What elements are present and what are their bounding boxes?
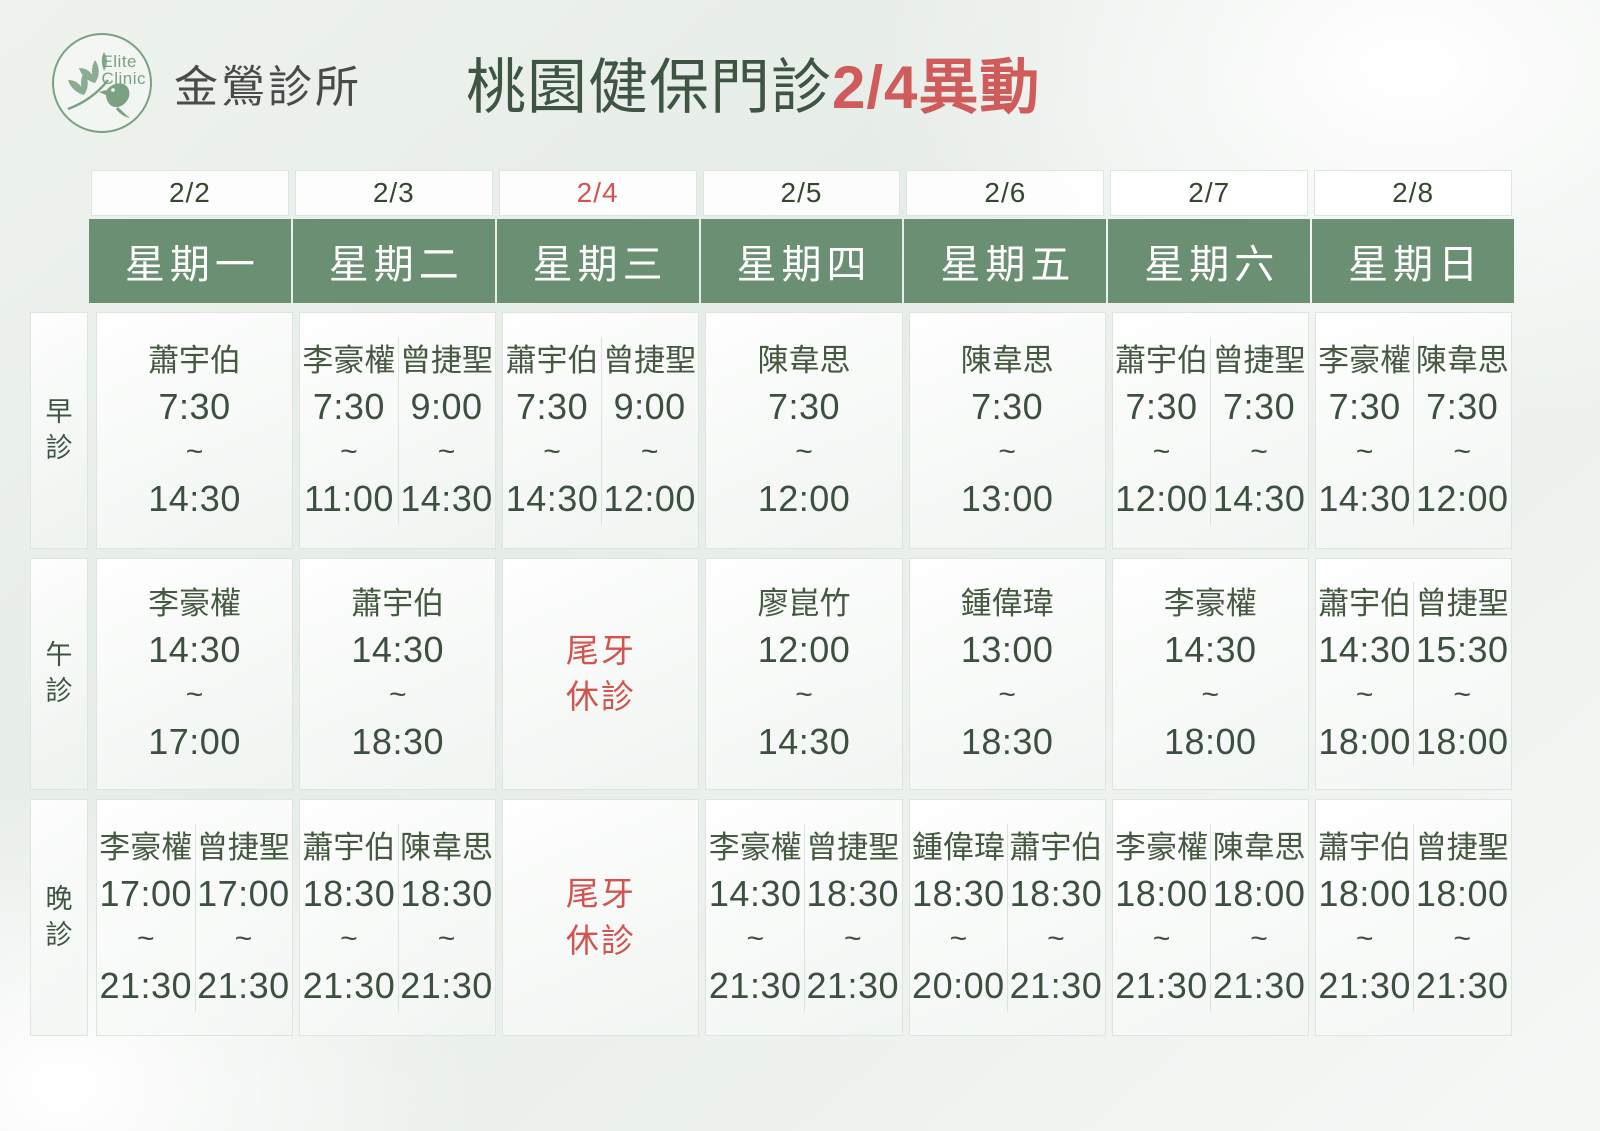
- doctor-name: 蕭宇伯: [1115, 345, 1208, 376]
- doctor-name: 陳韋思: [1213, 832, 1306, 863]
- session-label: 晚診: [30, 799, 88, 1036]
- slot-end-time: 18:00: [1416, 724, 1509, 760]
- page-header: Elite Clinic 金鶯診所 桃園健保門診2/4異動: [0, 0, 1600, 165]
- schedule-cell[interactable]: 陳韋思7:30~12:00: [705, 312, 902, 549]
- schedule-cell[interactable]: 李豪權17:00~21:30曾捷聖17:00~21:30: [96, 799, 293, 1036]
- slot-start-time: 7:30: [1125, 389, 1197, 425]
- session-label-char: 午: [46, 638, 73, 674]
- weekday-header-cell: 星期二: [293, 219, 495, 303]
- closed-notice-line1: 尾牙: [566, 628, 636, 674]
- time-range-separator: ~: [235, 924, 253, 954]
- slot-start-time: 9:00: [614, 389, 686, 425]
- schedule-cell[interactable]: 蕭宇伯7:30~12:00曾捷聖7:30~14:30: [1112, 312, 1309, 549]
- doctor-name: 陳韋思: [1416, 345, 1509, 376]
- slot-end-time: 18:30: [961, 724, 1054, 760]
- session-label: 午診: [30, 558, 88, 790]
- time-range-separator: ~: [1153, 437, 1171, 467]
- doctor-slot[interactable]: 曾捷聖18:30~21:30: [804, 800, 902, 1035]
- corner-spacer-2: [30, 219, 88, 303]
- doctor-name: 曾捷聖: [1213, 345, 1306, 376]
- time-range-separator: ~: [1356, 437, 1374, 467]
- slot-end-time: 14:30: [506, 481, 599, 517]
- time-range-separator: ~: [746, 924, 764, 954]
- doctor-name: 陳韋思: [757, 345, 850, 376]
- doctor-name: 蕭宇伯: [506, 345, 599, 376]
- closed-notice-line2: 休診: [566, 674, 636, 720]
- session-label-char: 早: [46, 395, 73, 431]
- doctor-slot[interactable]: 曾捷聖17:00~21:30: [195, 800, 293, 1035]
- doctor-slot[interactable]: 李豪權7:30~11:00: [300, 313, 398, 548]
- weekday-header-cell: 星期四: [701, 219, 903, 303]
- doctor-name: 曾捷聖: [1416, 832, 1509, 863]
- slot-end-time: 18:00: [1318, 724, 1411, 760]
- time-range-separator: ~: [389, 680, 407, 710]
- slot-end-time: 11:00: [304, 481, 394, 517]
- time-range-separator: ~: [1250, 924, 1268, 954]
- slot-start-time: 17:00: [99, 876, 192, 912]
- slot-end-time: 12:00: [758, 481, 851, 517]
- slot-end-time: 21:30: [303, 968, 396, 1004]
- doctor-name: 李豪權: [1115, 832, 1208, 863]
- doctor-name: 曾捷聖: [603, 345, 696, 376]
- doctor-name: 李豪權: [1318, 345, 1411, 376]
- slot-start-time: 12:00: [758, 632, 851, 668]
- doctor-slot[interactable]: 曾捷聖18:00~21:30: [1413, 800, 1511, 1035]
- doctor-slot[interactable]: 陳韋思7:30~12:00: [706, 313, 901, 548]
- slot-end-time: 14:30: [1318, 481, 1411, 517]
- doctor-slot[interactable]: 李豪權18:00~21:30: [1113, 800, 1211, 1035]
- doctor-slot[interactable]: 李豪權14:30~18:00: [1113, 559, 1308, 789]
- slot-start-time: 18:30: [806, 876, 899, 912]
- session-label-char: 診: [46, 674, 73, 710]
- session-rows: 早診蕭宇伯7:30~14:30李豪權7:30~11:00曾捷聖9:00~14:3…: [30, 312, 1515, 1036]
- time-range-separator: ~: [1453, 924, 1471, 954]
- doctor-name: 曾捷聖: [1416, 588, 1509, 619]
- date-header-row: 2/22/32/42/52/62/72/8: [30, 170, 1515, 216]
- schedule-cell[interactable]: 蕭宇伯14:30~18:30: [299, 558, 496, 790]
- doctor-slot[interactable]: 蕭宇伯14:30~18:30: [300, 559, 495, 789]
- slot-end-time: 14:30: [400, 481, 493, 517]
- doctor-slot[interactable]: 陳韋思7:30~12:00: [1413, 313, 1511, 548]
- slot-start-time: 7:30: [1329, 389, 1401, 425]
- slot-end-time: 21:30: [197, 968, 290, 1004]
- time-range-separator: ~: [1202, 680, 1220, 710]
- weekday-header-cell: 星期五: [904, 219, 1106, 303]
- slot-end-time: 21:30: [1416, 968, 1509, 1004]
- slot-end-time: 12:00: [1115, 481, 1208, 517]
- doctor-slot[interactable]: 鍾偉瑋13:00~18:30: [910, 559, 1105, 789]
- slot-end-time: 12:00: [1416, 481, 1509, 517]
- slot-start-time: 7:30: [1426, 389, 1498, 425]
- closed-notice: 尾牙休診: [503, 559, 698, 789]
- slot-start-time: 7:30: [971, 389, 1043, 425]
- schedule-table: 2/22/32/42/52/62/72/8 星期一星期二星期三星期四星期五星期六…: [30, 170, 1515, 1045]
- slot-start-time: 7:30: [516, 389, 588, 425]
- doctor-name: 鍾偉瑋: [912, 832, 1005, 863]
- doctor-name: 蕭宇伯: [302, 832, 395, 863]
- time-range-separator: ~: [641, 437, 659, 467]
- doctor-slot[interactable]: 曾捷聖9:00~14:30: [398, 313, 496, 548]
- slot-start-time: 14:30: [148, 632, 241, 668]
- time-range-separator: ~: [186, 680, 204, 710]
- clinic-name: 金鶯診所: [174, 51, 362, 115]
- slot-start-time: 18:00: [1213, 876, 1306, 912]
- doctor-name: 李豪權: [302, 345, 395, 376]
- schedule-cell[interactable]: 蕭宇伯7:30~14:30: [96, 312, 293, 549]
- schedule-cell[interactable]: 李豪權14:30~21:30曾捷聖18:30~21:30: [705, 799, 902, 1036]
- doctor-slot[interactable]: 陳韋思7:30~13:00: [910, 313, 1105, 548]
- slot-start-time: 18:00: [1115, 876, 1208, 912]
- doctor-name: 李豪權: [709, 832, 802, 863]
- doctor-slot[interactable]: 李豪權14:30~21:30: [706, 800, 804, 1035]
- time-range-separator: ~: [340, 924, 358, 954]
- schedule-cell[interactable]: 蕭宇伯18:00~21:30曾捷聖18:00~21:30: [1315, 799, 1512, 1036]
- schedule-cell[interactable]: 陳韋思7:30~13:00: [909, 312, 1106, 549]
- closed-notice-line2: 休診: [566, 918, 636, 964]
- time-range-separator: ~: [1047, 924, 1065, 954]
- doctor-name: 陳韋思: [400, 832, 493, 863]
- date-header-cell: 2/3: [295, 170, 493, 216]
- time-range-separator: ~: [998, 680, 1016, 710]
- slot-start-time: 15:30: [1416, 632, 1509, 668]
- slot-end-time: 17:00: [148, 724, 241, 760]
- weekday-header-cell: 星期一: [89, 219, 291, 303]
- slot-end-time: 14:30: [758, 724, 851, 760]
- page-title: 桃園健保門診2/4異動: [466, 39, 1040, 126]
- date-header-cell: 2/8: [1314, 170, 1512, 216]
- doctor-slot[interactable]: 曾捷聖15:30~18:00: [1413, 559, 1511, 789]
- doctor-slot[interactable]: 李豪權7:30~14:30: [1316, 313, 1414, 548]
- schedule-cell[interactable]: 李豪權14:30~18:00: [1112, 558, 1309, 790]
- doctor-slot[interactable]: 李豪權14:30~17:00: [97, 559, 292, 789]
- clinic-logo-icon: Elite Clinic: [52, 33, 152, 133]
- schedule-cell[interactable]: 李豪權7:30~11:00曾捷聖9:00~14:30: [299, 312, 496, 549]
- schedule-cell[interactable]: 李豪權14:30~17:00: [96, 558, 293, 790]
- weekday-header-cell: 星期三: [497, 219, 699, 303]
- time-range-separator: ~: [186, 437, 204, 467]
- doctor-name: 陳韋思: [961, 345, 1054, 376]
- doctor-name: 鍾偉瑋: [961, 588, 1054, 619]
- doctor-slot[interactable]: 蕭宇伯18:30~21:30: [300, 800, 398, 1035]
- time-range-separator: ~: [998, 437, 1016, 467]
- slot-start-time: 7:30: [313, 389, 385, 425]
- slot-end-time: 21:30: [1010, 968, 1103, 1004]
- date-header-cell: 2/2: [91, 170, 289, 216]
- closed-notice-line1: 尾牙: [566, 871, 636, 917]
- time-range-separator: ~: [438, 437, 456, 467]
- time-range-separator: ~: [1356, 924, 1374, 954]
- slot-end-time: 14:30: [1213, 481, 1306, 517]
- time-range-separator: ~: [1453, 437, 1471, 467]
- time-range-separator: ~: [340, 437, 358, 467]
- doctor-slot[interactable]: 鍾偉瑋18:30~20:00: [910, 800, 1008, 1035]
- doctor-slot[interactable]: 蕭宇伯18:00~21:30: [1316, 800, 1414, 1035]
- doctor-name: 曾捷聖: [400, 345, 493, 376]
- doctor-name: 蕭宇伯: [351, 588, 444, 619]
- slot-start-time: 14:30: [351, 632, 444, 668]
- doctor-slot[interactable]: 蕭宇伯14:30~18:00: [1316, 559, 1414, 789]
- logo-text-line1: Elite: [101, 53, 146, 70]
- date-header-cell: 2/4: [499, 170, 697, 216]
- slot-end-time: 21:30: [1318, 968, 1411, 1004]
- slot-start-time: 17:00: [197, 876, 290, 912]
- slot-start-time: 14:30: [709, 876, 802, 912]
- slot-end-time: 21:30: [400, 968, 493, 1004]
- time-range-separator: ~: [795, 437, 813, 467]
- time-range-separator: ~: [1453, 680, 1471, 710]
- slot-end-time: 20:00: [912, 968, 1005, 1004]
- doctor-slot[interactable]: 廖崑竹12:00~14:30: [706, 559, 901, 789]
- doctor-name: 李豪權: [1164, 588, 1257, 619]
- slot-end-time: 12:00: [603, 481, 696, 517]
- session-row: 午診李豪權14:30~17:00蕭宇伯14:30~18:30尾牙休診廖崑竹12:…: [30, 558, 1515, 790]
- schedule-cell[interactable]: 尾牙休診: [502, 799, 699, 1036]
- slot-start-time: 18:30: [400, 876, 493, 912]
- schedule-cell[interactable]: 蕭宇伯18:30~21:30陳韋思18:30~21:30: [299, 799, 496, 1036]
- doctor-name: 蕭宇伯: [1318, 588, 1411, 619]
- corner-spacer: [30, 170, 88, 216]
- slot-start-time: 14:30: [1164, 632, 1257, 668]
- time-range-separator: ~: [1153, 924, 1171, 954]
- slot-start-time: 7:30: [1223, 389, 1295, 425]
- schedule-cell[interactable]: 李豪權18:00~21:30陳韋思18:00~21:30: [1112, 799, 1309, 1036]
- doctor-slot[interactable]: 李豪權17:00~21:30: [97, 800, 195, 1035]
- doctor-slot[interactable]: 陳韋思18:30~21:30: [398, 800, 496, 1035]
- doctor-slot[interactable]: 蕭宇伯7:30~14:30: [503, 313, 601, 548]
- time-range-separator: ~: [543, 437, 561, 467]
- doctor-name: 廖崑竹: [757, 588, 850, 619]
- time-range-separator: ~: [1356, 680, 1374, 710]
- page-title-accent: 2/4異動: [832, 54, 1040, 121]
- slot-end-time: 21:30: [709, 968, 802, 1004]
- time-range-separator: ~: [795, 680, 813, 710]
- weekday-header-cell: 星期六: [1108, 219, 1310, 303]
- slot-start-time: 18:30: [303, 876, 396, 912]
- date-header-cell: 2/6: [906, 170, 1104, 216]
- time-range-separator: ~: [1250, 437, 1268, 467]
- doctor-name: 曾捷聖: [197, 832, 290, 863]
- slot-end-time: 21:30: [1115, 968, 1208, 1004]
- time-range-separator: ~: [438, 924, 456, 954]
- doctor-slot[interactable]: 蕭宇伯18:30~21:30: [1007, 800, 1105, 1035]
- slot-end-time: 18:00: [1164, 724, 1257, 760]
- weekday-header-row: 星期一星期二星期三星期四星期五星期六星期日: [30, 219, 1515, 303]
- doctor-name: 李豪權: [99, 832, 192, 863]
- closed-notice: 尾牙休診: [503, 800, 698, 1035]
- doctor-slot[interactable]: 曾捷聖9:00~12:00: [601, 313, 699, 548]
- slot-start-time: 7:30: [768, 389, 840, 425]
- time-range-separator: ~: [137, 924, 155, 954]
- session-label-char: 診: [46, 431, 73, 467]
- slot-start-time: 7:30: [159, 389, 231, 425]
- session-label-char: 診: [46, 918, 73, 954]
- logo-text-line2: Clinic: [101, 70, 146, 87]
- session-label: 早診: [30, 312, 88, 549]
- weekday-header-cell: 星期日: [1312, 219, 1514, 303]
- schedule-cell[interactable]: 廖崑竹12:00~14:30: [705, 558, 902, 790]
- doctor-slot[interactable]: 蕭宇伯7:30~14:30: [97, 313, 292, 548]
- slot-start-time: 18:00: [1416, 876, 1509, 912]
- doctor-name: 蕭宇伯: [148, 345, 241, 376]
- time-range-separator: ~: [844, 924, 862, 954]
- doctor-slot[interactable]: 蕭宇伯7:30~12:00: [1113, 313, 1211, 548]
- doctor-slot[interactable]: 陳韋思18:00~21:30: [1210, 800, 1308, 1035]
- date-header-cell: 2/7: [1110, 170, 1308, 216]
- date-header-cell: 2/5: [703, 170, 901, 216]
- slot-start-time: 9:00: [410, 389, 482, 425]
- schedule-cell[interactable]: 尾牙休診: [502, 558, 699, 790]
- slot-end-time: 21:30: [1213, 968, 1306, 1004]
- slot-start-time: 13:00: [961, 632, 1054, 668]
- time-range-separator: ~: [950, 924, 968, 954]
- schedule-cell[interactable]: 鍾偉瑋18:30~20:00蕭宇伯18:30~21:30: [909, 799, 1106, 1036]
- slot-end-time: 21:30: [806, 968, 899, 1004]
- doctor-name: 曾捷聖: [806, 832, 899, 863]
- schedule-cell[interactable]: 李豪權7:30~14:30陳韋思7:30~12:00: [1315, 312, 1512, 549]
- page-title-main: 桃園健保門診: [466, 54, 832, 121]
- slot-start-time: 18:00: [1318, 876, 1411, 912]
- doctor-name: 李豪權: [148, 588, 241, 619]
- clinic-brand: Elite Clinic 金鶯診所: [52, 33, 362, 133]
- session-label-char: 晚: [46, 882, 73, 918]
- slot-end-time: 14:30: [148, 481, 241, 517]
- slot-end-time: 18:30: [351, 724, 444, 760]
- schedule-cell[interactable]: 蕭宇伯14:30~18:00曾捷聖15:30~18:00: [1315, 558, 1512, 790]
- doctor-name: 蕭宇伯: [1009, 832, 1102, 863]
- slot-start-time: 18:30: [1010, 876, 1103, 912]
- slot-end-time: 13:00: [961, 481, 1054, 517]
- doctor-name: 蕭宇伯: [1318, 832, 1411, 863]
- slot-end-time: 21:30: [99, 968, 192, 1004]
- schedule-cell[interactable]: 蕭宇伯7:30~14:30曾捷聖9:00~12:00: [502, 312, 699, 549]
- slot-start-time: 14:30: [1318, 632, 1411, 668]
- slot-start-time: 18:30: [912, 876, 1005, 912]
- session-row: 早診蕭宇伯7:30~14:30李豪權7:30~11:00曾捷聖9:00~14:3…: [30, 312, 1515, 549]
- doctor-slot[interactable]: 曾捷聖7:30~14:30: [1210, 313, 1308, 548]
- session-row: 晚診李豪權17:00~21:30曾捷聖17:00~21:30蕭宇伯18:30~2…: [30, 799, 1515, 1036]
- schedule-cell[interactable]: 鍾偉瑋13:00~18:30: [909, 558, 1106, 790]
